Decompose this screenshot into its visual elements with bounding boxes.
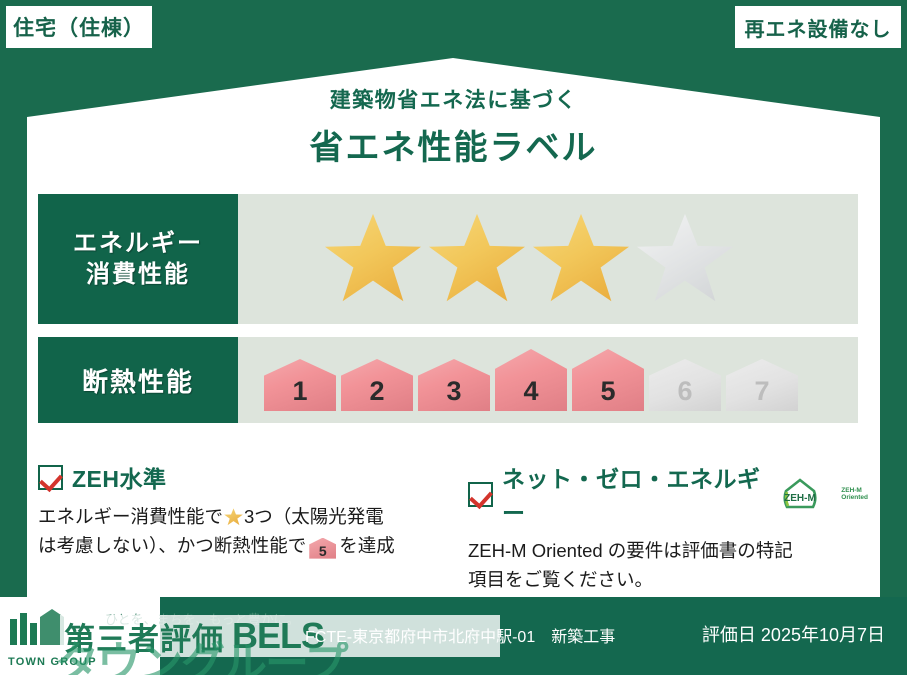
zeh-standard-body: エネルギー消費性能で3つ（太陽光発電 は考慮しない）、かつ断熱性能で5を達成 [38,503,438,560]
zeh-standard-title: ZEH水準 [72,460,167,494]
star-empty-icon [636,212,734,306]
energy-performance-row: エネルギー 消費性能 [38,194,858,324]
grade-chip-active: 4 [495,349,567,411]
grade-chip-active: 5 [572,349,644,411]
star-filled-icon [532,212,630,306]
footer-bar: TOWN GROUP ひとを、まちを、もっと豊かに。 第三者評価 BELS タウ… [0,597,907,675]
net-zero-title: ネット・ゼロ・エネルギー [502,460,765,528]
net-zero-body: ZEH-M Oriented の要件は評価書の特記 項目をご覧ください。 [468,537,868,594]
insulation-performance-row: 断熱性能 1234567 [38,337,858,423]
zeh-body-part-b: 3つ（太陽光発電 [244,506,384,527]
badge-building-type: 住宅（住棟） [6,6,152,48]
net-zero-heading: ネット・ゼロ・エネルギー ZEH-M ZEH-M Oriented [468,460,868,528]
inline-star-icon [224,508,243,526]
grade-chip-active: 2 [341,359,413,411]
energy-performance-label: 住宅（住棟） 再エネ設備なし 建築物省エネ法に基づく 省エネ性能ラベル エネルギ… [0,0,907,675]
note-net-zero-energy: ネット・ゼロ・エネルギー ZEH-M ZEH-M Oriented [468,460,868,594]
label-title: 建築物省エネ法に基づく 省エネ性能ラベル [0,84,907,169]
checkbox-checked-icon[interactable] [468,482,493,507]
insulation-performance-label-block: 断熱性能 [38,337,238,423]
project-name: FCTE-東京都府中市北府中駅-01 新築工事 [305,623,615,647]
zeh-m-oriented-caption: ZEH-M Oriented [841,487,868,502]
badge-renewable-energy: 再エネ設備なし [735,6,901,48]
grade-chip-inactive: 7 [726,359,798,411]
grade-scale: 1234567 [264,349,798,411]
star-filled-icon [428,212,526,306]
zeh-m-caption-line2: Oriented [841,494,868,501]
title-subtitle: 建築物省エネ法に基づく [0,84,907,114]
grade-chip-inactive: 6 [649,359,721,411]
zeh-standard-heading: ZEH水準 [38,460,438,494]
grade-chip-active: 3 [418,359,490,411]
checkbox-checked-icon[interactable] [38,465,63,490]
star-filled-icon [324,212,422,306]
town-group-watermark: タウングループ [55,627,346,675]
zeh-body-part-a: エネルギー消費性能で [38,506,223,527]
notes-section: ZEH水準 エネルギー消費性能で3つ（太陽光発電 は考慮しない）、かつ断熱性能で… [38,460,878,594]
energy-performance-value [238,194,858,324]
title-main: 省エネ性能ラベル [0,120,907,169]
svg-text:ZEH-M: ZEH-M [784,493,816,504]
zeh-m-caption-line1: ZEH-M [841,487,862,494]
energy-label-line2: 消費性能 [86,259,190,290]
zeh-m-house-icon: ZEH-M [782,477,838,511]
insulation-label: 断熱性能 [82,362,194,399]
energy-label-line1: エネルギー [73,228,203,259]
star-rating [324,212,734,306]
evaluation-date: 評価日 2025年10月7日 [702,621,885,647]
net-zero-body-line2: 項目をご覧ください。 [468,569,653,590]
note-zeh-standard: ZEH水準 エネルギー消費性能で3つ（太陽光発電 は考慮しない）、かつ断熱性能で… [38,460,438,594]
net-zero-body-line1: ZEH-M Oriented の要件は評価書の特記 [468,540,793,561]
insulation-performance-value: 1234567 [238,337,858,423]
zeh-body-part-d: を達成 [339,535,395,556]
energy-performance-label-block: エネルギー 消費性能 [38,194,238,324]
zeh-body-part-c: は考慮しない）、かつ断熱性能で [38,535,306,556]
grade-chip-active: 1 [264,359,336,411]
zeh-m-oriented-logo: ZEH-M ZEH-M Oriented [782,477,868,511]
inline-house-badge: 5 [309,538,336,559]
